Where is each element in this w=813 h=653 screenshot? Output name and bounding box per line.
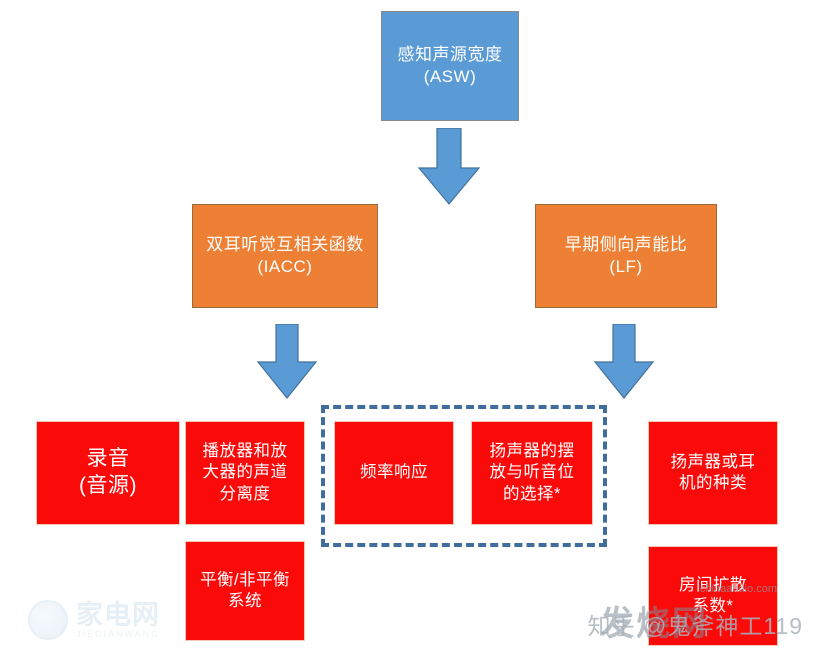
watermark-left-brand: 家电网 [76, 602, 160, 629]
node-iacc[interactable]: 双耳听觉互相关函数 (IACC) [192, 204, 378, 308]
node-speaker-placement[interactable]: 扬声器的摆 放与听音位 的选择* [471, 421, 593, 525]
node-balanced-system[interactable]: 平衡/非平衡 系统 [185, 541, 305, 641]
node-room-diffusion-coefficient[interactable]: 房间扩散 系数* [648, 546, 778, 646]
node-perceived-source-width[interactable]: 感知声源宽度 (ASW) [381, 11, 519, 121]
node-recording-source[interactable]: 录音 (音源) [36, 421, 180, 525]
node-lf[interactable]: 早期侧向声能比 (LF) [535, 204, 717, 308]
watermark-left: 家电网 JIEDIANWANG [28, 600, 160, 640]
arrow-iacc-to-level3 [255, 324, 319, 400]
node-frequency-response[interactable]: 频率响应 [334, 421, 454, 525]
arrow-asw-to-level2 [417, 128, 481, 206]
arrow-lf-to-level3 [592, 324, 656, 400]
watermark-left-sub: JIEDIANWANG [76, 629, 160, 639]
node-channel-separation[interactable]: 播放器和放 大器的声道 分离度 [185, 421, 305, 525]
diagram-canvas: 感知声源宽度 (ASW) 双耳听觉互相关函数 (IACC) 早期侧向声能比 (L… [0, 0, 813, 653]
node-speaker-headphone-type[interactable]: 扬声器或耳 机的种类 [648, 421, 778, 525]
globe-icon [28, 600, 68, 640]
